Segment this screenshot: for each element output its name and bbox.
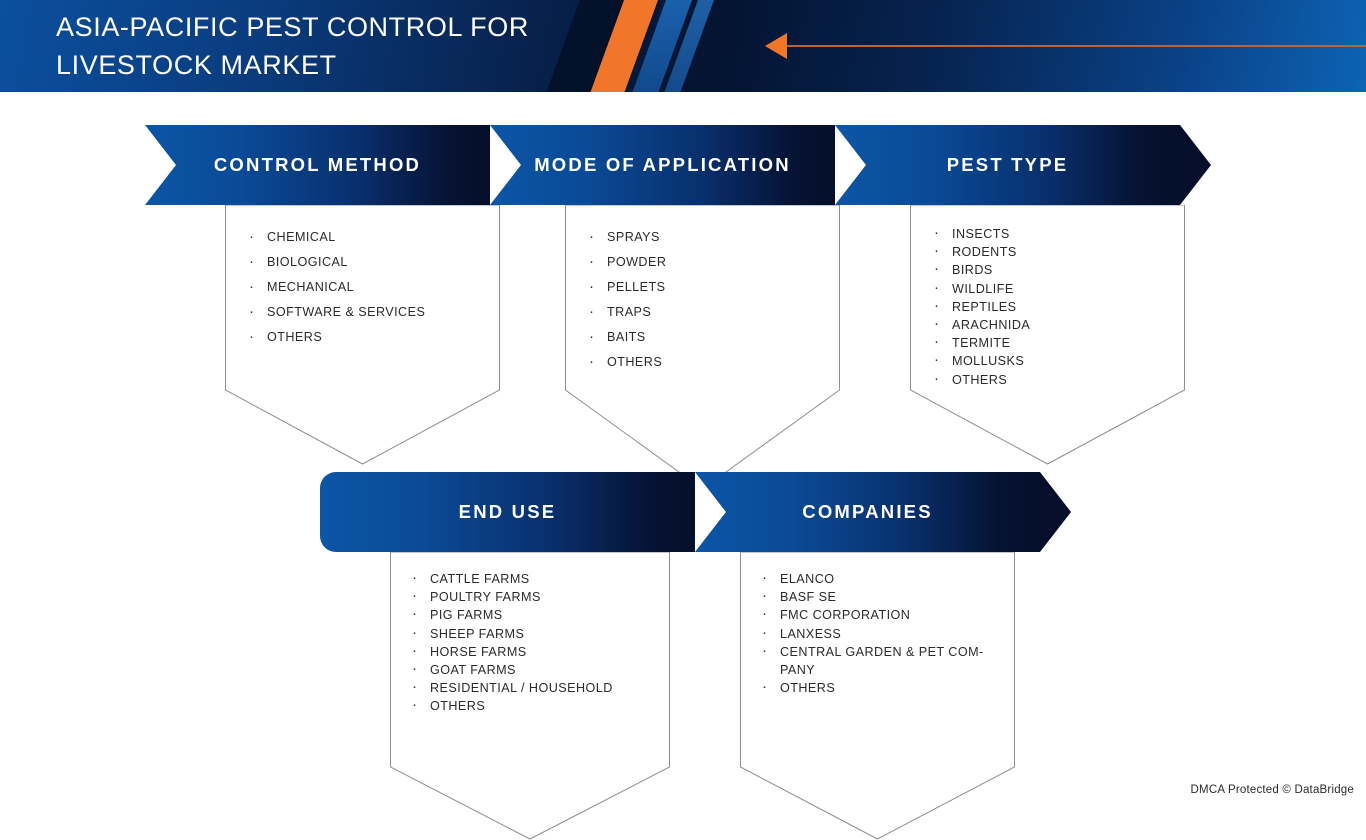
banner-row-1: CONTROL METHOD MODE OF APPLICATION PEST … [145,125,1180,205]
list-item: MOLLUSKS [930,352,1185,370]
list-item: PIG FARMS [408,606,670,624]
list-item: LANXESS [758,625,1015,643]
list-item: POWDER [585,250,840,275]
list-item: WILDLIFE [930,280,1185,298]
list-item: REPTILES [930,298,1185,316]
list-item: TRAPS [585,300,840,325]
banner-segment-end-use[interactable]: END USE [320,472,695,552]
banner-segment-pest-type[interactable]: PEST TYPE [835,125,1180,205]
banner-segment-control-method[interactable]: CONTROL METHOD [145,125,490,205]
banner-segment-companies[interactable]: COMPANIES [695,472,1040,552]
list-item: ELANCO [758,570,1015,588]
list-item: POULTRY FARMS [408,588,670,606]
list-item: TERMITE [930,334,1185,352]
banner-label: COMPANIES [802,501,932,523]
left-arrow-icon [765,33,787,59]
list-item: OTHERS [758,679,1015,697]
card-end-use: CATTLE FARMS POULTRY FARMS PIG FARMS SHE… [390,552,670,840]
banner-segment-mode-of-application[interactable]: MODE OF APPLICATION [490,125,835,205]
list-item: GOAT FARMS [408,661,670,679]
list-item: CHEMICAL [245,225,500,250]
list-item: ARACHNIDA [930,316,1185,334]
list-item: INSECTS [930,225,1185,243]
list-item: RESIDENTIAL / HOUSEHOLD [408,679,670,697]
card-list: SPRAYS POWDER PELLETS TRAPS BAITS OTHERS [565,205,840,375]
card-list: INSECTS RODENTS BIRDS WILDLIFE REPTILES … [910,205,1185,389]
list-item: MECHANICAL [245,275,500,300]
list-item: BIRDS [930,261,1185,279]
list-item: OTHERS [245,325,500,350]
list-item: SPRAYS [585,225,840,250]
list-item: CENTRAL GARDEN & PET COM- PANY [758,643,1015,679]
banner-row-2: END USE COMPANIES [320,472,1040,552]
list-item: OTHERS [408,697,670,715]
page-header: ASIA-PACIFIC PEST CONTROL FOR LIVESTOCK … [0,0,1366,92]
list-item: OTHERS [585,350,840,375]
list-item: CATTLE FARMS [408,570,670,588]
card-pest-type: INSECTS RODENTS BIRDS WILDLIFE REPTILES … [910,205,1185,465]
banner-label: PEST TYPE [947,154,1069,176]
card-mode-of-application: SPRAYS POWDER PELLETS TRAPS BAITS OTHERS [565,205,840,490]
footer-copyright: DMCA Protected © DataBridge [1191,784,1354,796]
segment-row-1: CONTROL METHOD MODE OF APPLICATION PEST … [145,125,1180,205]
list-item: FMC CORPORATION [758,606,1015,624]
list-item: SOFTWARE & SERVICES [245,300,500,325]
card-list: CATTLE FARMS POULTRY FARMS PIG FARMS SHE… [390,552,670,716]
banner-label: END USE [459,501,557,523]
card-control-method: CHEMICAL BIOLOGICAL MECHANICAL SOFTWARE … [225,205,500,465]
segment-row-2: END USE COMPANIES CATTLE FARMS POULTRY F… [320,472,1040,552]
list-item: PELLETS [585,275,840,300]
card-companies: ELANCO BASF SE FMC CORPORATION LANXESS C… [740,552,1015,840]
list-item: HORSE FARMS [408,643,670,661]
list-item: OTHERS [930,371,1185,389]
header-rule [787,45,1366,47]
page-title: ASIA-PACIFIC PEST CONTROL FOR LIVESTOCK … [56,8,576,84]
list-item: BIOLOGICAL [245,250,500,275]
card-list: CHEMICAL BIOLOGICAL MECHANICAL SOFTWARE … [225,205,500,350]
list-item: BASF SE [758,588,1015,606]
list-item: RODENTS [930,243,1185,261]
card-list: ELANCO BASF SE FMC CORPORATION LANXESS C… [740,552,1015,697]
list-item: SHEEP FARMS [408,625,670,643]
list-item: BAITS [585,325,840,350]
banner-label: MODE OF APPLICATION [534,154,791,176]
banner-label: CONTROL METHOD [214,154,421,176]
